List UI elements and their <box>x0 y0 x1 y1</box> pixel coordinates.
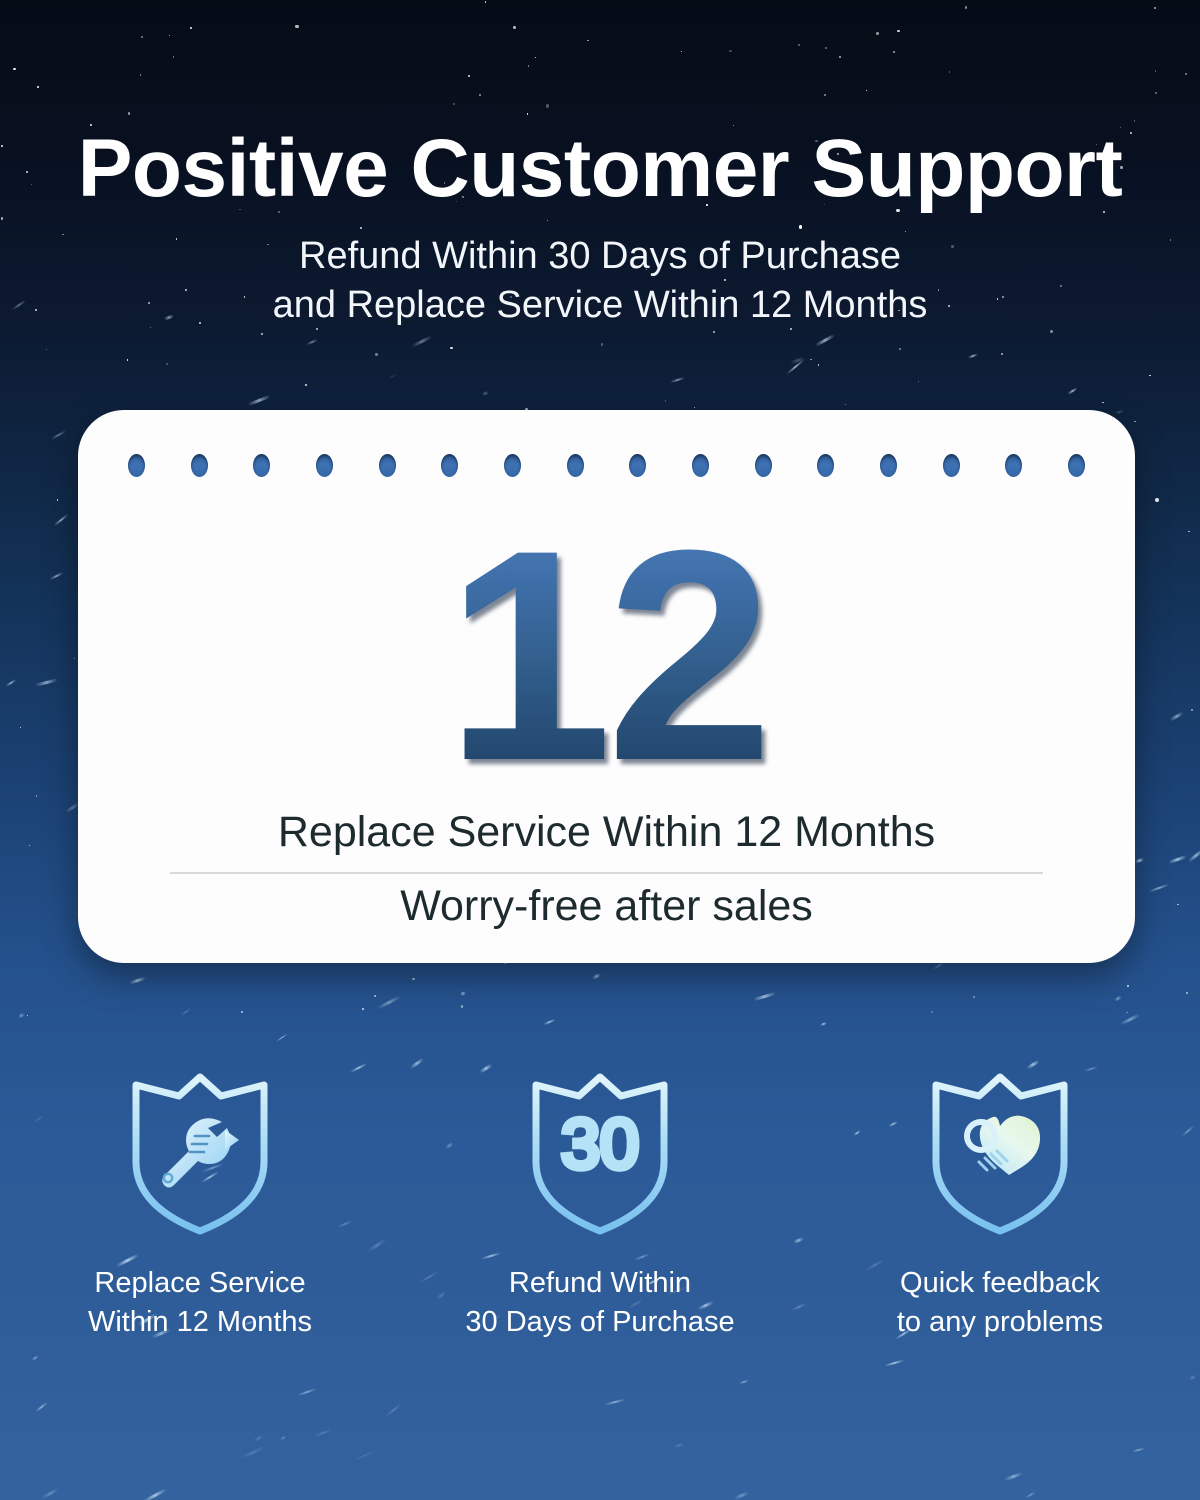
star <box>535 57 537 59</box>
star <box>412 978 414 980</box>
star <box>1177 904 1178 905</box>
subtitle-line-2: and Replace Service Within 12 Months <box>0 281 1200 330</box>
star <box>918 381 919 382</box>
star <box>485 1 487 3</box>
shield-handshake-icon <box>929 1070 1071 1238</box>
star <box>810 359 811 360</box>
particle-streak <box>604 1398 626 1405</box>
particle-streak <box>129 976 146 984</box>
star <box>128 112 130 114</box>
star <box>468 75 470 77</box>
particle-streak <box>51 430 67 440</box>
star <box>140 74 141 75</box>
perforation-dot <box>880 454 897 477</box>
particle-streak <box>276 1033 289 1042</box>
star <box>931 1011 933 1013</box>
particle-streak <box>306 339 318 345</box>
particle-streak <box>354 1450 376 1461</box>
star <box>305 384 307 386</box>
star <box>825 47 827 49</box>
feature-item-quick-feedback: Quick feedback to any problems <box>890 1070 1110 1342</box>
perforation-dot <box>441 454 458 477</box>
star <box>450 347 452 349</box>
particle-streak <box>459 991 466 996</box>
feature-list: Replace Service Within 12 Months 30 <box>0 1070 1200 1342</box>
particle-streak <box>32 1355 40 1361</box>
feature-caption-line-2: to any problems <box>897 1303 1103 1342</box>
promo-banner: Positive Customer Support Refund Within … <box>0 0 1200 1500</box>
card-primary-text: Replace Service Within 12 Months <box>78 808 1135 857</box>
star <box>866 90 867 91</box>
star <box>20 727 21 728</box>
particle-streak <box>387 374 398 380</box>
star <box>453 103 455 105</box>
feature-caption-line-2: 30 Days of Purchase <box>465 1303 734 1342</box>
star <box>1188 531 1189 532</box>
particle-streak <box>280 1435 286 1440</box>
feature-caption-line-1: Quick feedback <box>897 1264 1103 1303</box>
star <box>1102 402 1104 404</box>
star <box>824 94 826 96</box>
star <box>1127 985 1129 987</box>
particle-streak <box>1026 1491 1036 1498</box>
particle-streak <box>412 335 433 347</box>
star <box>74 658 75 659</box>
particle-streak <box>814 334 834 347</box>
particle-streak <box>1068 388 1079 396</box>
feature-item-replace-service: Replace Service Within 12 Months <box>90 1070 310 1342</box>
page-title: Positive Customer Support <box>0 128 1200 210</box>
particle-streak <box>1169 712 1183 722</box>
star <box>166 363 168 365</box>
feature-caption: Quick feedback to any problems <box>897 1264 1103 1342</box>
star <box>513 26 516 29</box>
star <box>1001 353 1003 355</box>
feature-caption-line-1: Replace Service <box>88 1264 312 1303</box>
star <box>965 6 968 9</box>
star <box>713 331 715 333</box>
particle-streak <box>885 1360 906 1367</box>
star <box>1050 330 1053 333</box>
perforation-row <box>78 454 1135 478</box>
star <box>949 71 950 72</box>
particle-streak <box>297 1388 317 1396</box>
star <box>839 56 841 58</box>
particle-streak <box>1027 1060 1041 1070</box>
star <box>527 113 529 115</box>
perforation-dot <box>379 454 396 477</box>
star <box>1186 992 1188 994</box>
star <box>1155 92 1156 93</box>
star <box>461 1005 463 1007</box>
feature-item-refund: 30 Refund Within 30 Days of Purchase <box>490 1070 710 1342</box>
shield-badge-number: 30 <box>561 1105 639 1183</box>
star <box>899 348 900 349</box>
particle-streak <box>180 1008 191 1016</box>
shield-30-days-icon: 30 <box>529 1070 671 1238</box>
star <box>57 499 59 501</box>
particle-streak <box>376 995 400 1009</box>
star <box>845 404 846 405</box>
perforation-dot <box>316 454 333 477</box>
star <box>818 364 819 365</box>
particle-streak <box>53 514 68 527</box>
page-subtitle: Refund Within 30 Days of Purchase and Re… <box>0 232 1200 329</box>
particle-streak <box>786 359 805 375</box>
particle-streak <box>1115 410 1124 414</box>
header: Positive Customer Support Refund Within … <box>0 128 1200 329</box>
star <box>1149 375 1150 376</box>
perforation-dot <box>128 454 145 477</box>
star <box>1134 120 1135 121</box>
star <box>37 86 39 88</box>
particle-streak <box>734 1491 749 1500</box>
particle-streak <box>35 1401 48 1412</box>
particle-streak <box>143 1488 167 1500</box>
star <box>1155 498 1159 502</box>
perforation-dot <box>1068 454 1085 477</box>
particle-streak <box>5 679 16 687</box>
particle-streak <box>314 1429 332 1437</box>
particle-streak <box>1114 995 1122 1002</box>
perforation-dot <box>755 454 772 477</box>
particle-streak <box>1148 883 1170 893</box>
star <box>27 1015 28 1016</box>
particle-streak <box>820 1022 827 1026</box>
perforation-dot <box>253 454 270 477</box>
particle-streak <box>753 991 776 1000</box>
star <box>169 35 170 36</box>
particle-streak <box>790 357 805 365</box>
star <box>528 65 530 67</box>
star <box>1185 73 1186 74</box>
star <box>241 1011 243 1013</box>
perforation-dot <box>1005 454 1022 477</box>
star <box>587 40 588 41</box>
particle-streak <box>543 1018 556 1025</box>
particle-streak <box>35 679 58 688</box>
perforation-dot <box>191 454 208 477</box>
star <box>1155 70 1157 72</box>
star <box>375 353 377 355</box>
star <box>665 400 667 402</box>
perforation-dot <box>943 454 960 477</box>
feature-caption-line-1: Refund Within <box>465 1264 734 1303</box>
feature-caption: Replace Service Within 12 Months <box>88 1264 312 1342</box>
star <box>362 1008 364 1010</box>
star <box>261 333 263 335</box>
star <box>374 995 376 997</box>
star <box>601 343 604 346</box>
star <box>729 50 731 52</box>
particle-streak <box>253 1434 264 1442</box>
particle-streak <box>671 377 686 383</box>
star <box>681 51 683 53</box>
star <box>141 36 143 38</box>
particle-streak <box>1187 848 1200 863</box>
particle-streak <box>1004 1472 1023 1481</box>
star <box>29 845 30 846</box>
subtitle-line-1: Refund Within 30 Days of Purchase <box>0 232 1200 281</box>
shield-wrench-icon <box>129 1070 271 1238</box>
particle-streak <box>42 1488 59 1499</box>
star <box>1191 709 1192 710</box>
perforation-dot <box>567 454 584 477</box>
warranty-card: 12 Replace Service Within 12 Months Worr… <box>78 410 1135 963</box>
particle-streak <box>410 1057 424 1069</box>
perforation-dot <box>504 454 521 477</box>
star <box>1154 7 1156 9</box>
star <box>190 27 192 29</box>
star <box>36 795 37 796</box>
particle-streak <box>968 353 978 359</box>
star <box>876 32 879 35</box>
particle-streak <box>1189 1375 1197 1380</box>
star <box>1126 1012 1127 1013</box>
star <box>46 349 47 350</box>
card-secondary-text: Worry-free after sales <box>78 882 1135 931</box>
star <box>13 68 15 70</box>
particle-streak <box>1168 855 1187 864</box>
feature-caption: Refund Within 30 Days of Purchase <box>465 1264 734 1342</box>
warranty-months-number: 12 <box>78 505 1135 805</box>
particle-streak <box>1132 1447 1145 1452</box>
perforation-dot <box>817 454 834 477</box>
particle-streak <box>18 1012 26 1019</box>
card-divider <box>170 872 1043 874</box>
star <box>546 104 549 107</box>
particle-streak <box>385 1403 403 1418</box>
perforation-dot <box>629 454 646 477</box>
particle-streak <box>1135 858 1145 864</box>
star <box>479 94 481 96</box>
star <box>893 51 895 53</box>
particle-streak <box>674 1443 684 1449</box>
star <box>1134 421 1135 422</box>
particle-streak <box>739 1380 749 1385</box>
star <box>973 996 975 998</box>
particle-streak <box>247 394 270 405</box>
particle-streak <box>481 391 488 396</box>
star <box>694 407 695 408</box>
star <box>173 56 175 58</box>
particle-streak <box>49 571 63 580</box>
feature-caption-line-2: Within 12 Months <box>88 1303 312 1342</box>
particle-streak <box>241 1446 265 1459</box>
star <box>798 44 799 45</box>
particle-streak <box>1119 1013 1140 1025</box>
perforation-dot <box>692 454 709 477</box>
star <box>127 359 129 361</box>
star <box>295 25 298 28</box>
particle-streak <box>592 973 601 980</box>
star <box>897 30 899 32</box>
